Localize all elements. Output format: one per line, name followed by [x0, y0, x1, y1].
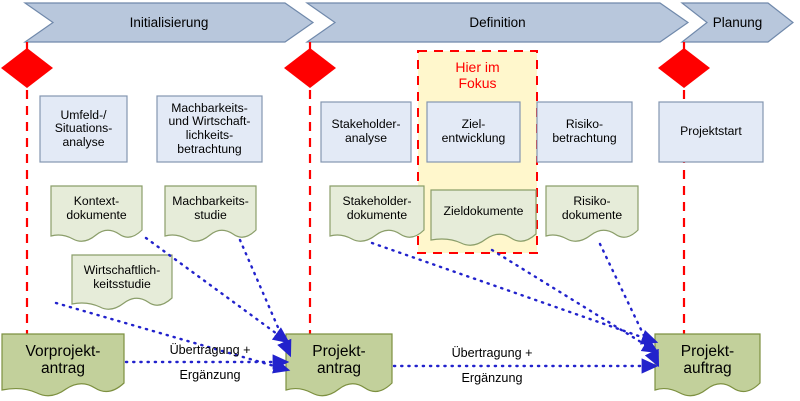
document-shape-stakeholderdokumente[interactable] [330, 186, 424, 241]
activity-box-zielentwicklung[interactable] [427, 102, 520, 162]
activity-box-risikobetrachtung[interactable] [537, 102, 632, 162]
milestone-diamond-2 [284, 48, 336, 88]
banner-initialisierung [25, 3, 313, 42]
activity-box-machbarkeits-wirtschaftlichkeitsbetrachtung[interactable] [157, 96, 262, 162]
document-shape-wirtschaftlichkeitsstudie[interactable] [72, 255, 172, 309]
document-shape-machbarkeitsstudie[interactable] [165, 186, 256, 241]
banner-planung [682, 3, 793, 42]
flow-arrow-risiko-to-projektauftrag [600, 244, 658, 365]
activity-box-umfeld-situationsanalyse[interactable] [40, 96, 127, 162]
milestone-diamond-3 [658, 48, 710, 88]
document-shape-zieldokumente[interactable] [431, 190, 536, 245]
activity-box-stakeholderanalyse[interactable] [321, 102, 411, 162]
deliverable-shape-projektauftrag[interactable] [655, 334, 760, 396]
milestone-diamond-1 [1, 48, 53, 88]
deliverable-shape-projektantrag[interactable] [286, 334, 392, 396]
activity-box-projektstart[interactable] [659, 102, 763, 162]
banner-definition [307, 3, 688, 42]
flow-arrow-machbarkeit-to-projektantrag [240, 240, 290, 355]
flow-arrow-zieldokumente-to-projektauftrag [492, 250, 657, 352]
deliverable-shape-vorprojektantrag[interactable] [2, 334, 124, 396]
flow-arrow-stakeholder-to-projektauftrag [372, 243, 656, 342]
document-shape-risikodokumente[interactable] [546, 186, 638, 241]
diagram-vector-layer [0, 0, 800, 401]
diagram-canvas: Initialisierung Definition Planung Hier … [0, 0, 800, 401]
document-shape-kontextdokumente[interactable] [51, 186, 142, 241]
